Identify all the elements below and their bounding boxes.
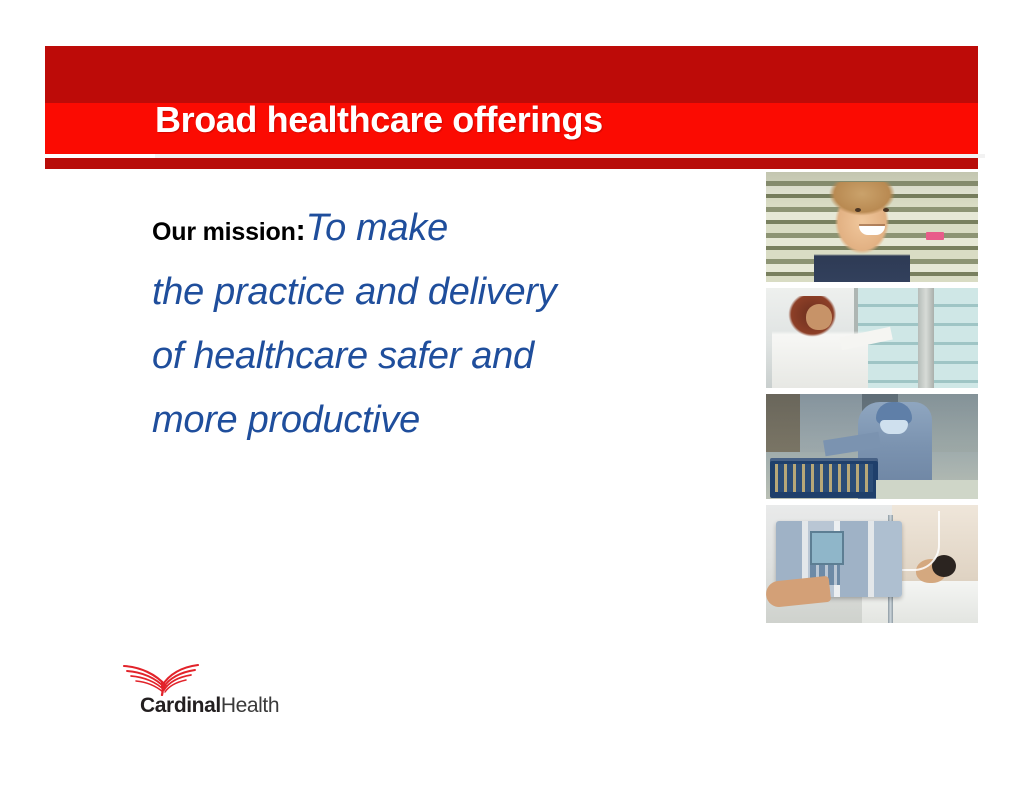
photo-infusion-pumps-bedside: Clinician adjusting IV infusion pumps at… bbox=[766, 505, 978, 623]
slide: Broad healthcare offerings Our mission:T… bbox=[0, 0, 1024, 791]
photo-person-eyes bbox=[855, 208, 889, 212]
logo-word-health: Health bbox=[221, 694, 279, 717]
photo-strip: Smiling pharmacy technician standing in … bbox=[766, 172, 978, 629]
photo-technician-face bbox=[806, 304, 832, 330]
mission-line-1: Our mission:To make bbox=[152, 200, 732, 264]
photo-surgical-instruments bbox=[775, 464, 873, 492]
header-band-dark bbox=[45, 46, 978, 103]
mission-text-2: the practice and delivery bbox=[152, 271, 556, 313]
mission-text-3: of healthcare safer and bbox=[152, 335, 534, 377]
photo-shelf-label bbox=[926, 232, 944, 240]
photo-surgical-instrument-tray: Surgical staff member in scrubs and mask… bbox=[766, 394, 978, 499]
slide-header-banner: Broad healthcare offerings bbox=[45, 46, 978, 154]
cardinal-bird-icon bbox=[122, 662, 200, 696]
mission-text-4: more productive bbox=[152, 399, 420, 441]
photo-cabinet-door bbox=[918, 288, 934, 388]
mission-line-4: more productive bbox=[152, 392, 732, 456]
mission-label: Our mission bbox=[152, 218, 296, 246]
photo-clinician-hand bbox=[766, 576, 831, 609]
mission-colon: : bbox=[296, 214, 306, 247]
photo-pump-screen bbox=[810, 531, 844, 565]
logo-wordmark: CardinalHealth bbox=[140, 694, 279, 718]
mission-line-3: of healthcare safer and bbox=[152, 328, 732, 392]
photo-pharmacist-at-shelving: Smiling pharmacy technician standing in … bbox=[766, 172, 978, 282]
photo-surgical-drape bbox=[876, 480, 978, 499]
mission-text-1: To make bbox=[306, 207, 448, 249]
photo-surgical-mask bbox=[880, 420, 908, 434]
logo-word-cardinal: Cardinal bbox=[140, 694, 221, 717]
header-foot-band bbox=[45, 158, 978, 169]
mission-statement: Our mission:To make the practice and del… bbox=[152, 200, 732, 456]
photo-lab-technician-at-cabinet: Lab technician in white coat retrieving … bbox=[766, 288, 978, 388]
page-title: Broad healthcare offerings bbox=[155, 98, 603, 142]
cardinal-health-logo: CardinalHealth bbox=[122, 662, 312, 720]
mission-line-2: the practice and delivery bbox=[152, 264, 732, 328]
